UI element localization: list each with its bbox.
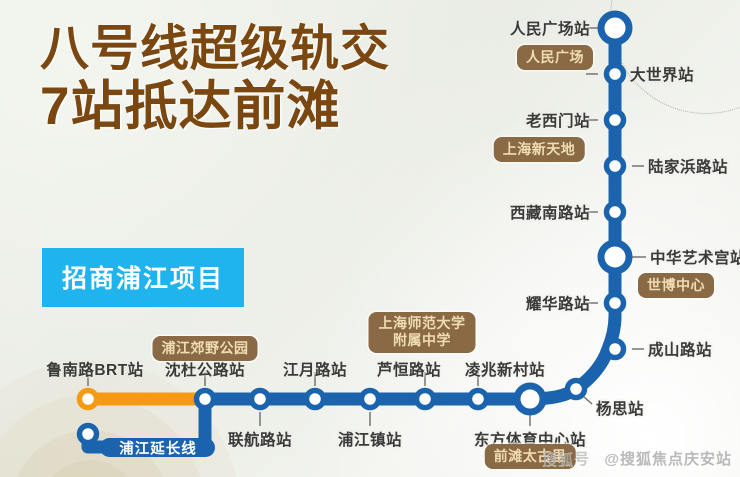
- poi-badge-expo-center[interactable]: 世博中心: [638, 273, 714, 298]
- station-dot[interactable]: [307, 391, 324, 408]
- station-dot-interchange[interactable]: [601, 14, 629, 42]
- station-dot[interactable]: [417, 391, 434, 408]
- station-label-chengshan-rd: 成山路站: [648, 338, 712, 360]
- station-dots: [80, 14, 630, 443]
- station-dot[interactable]: [607, 66, 624, 83]
- station-label-dashijie: 大世界站: [630, 63, 694, 85]
- station-dot-interchange[interactable]: [601, 243, 629, 271]
- station-dot-orange-terminus[interactable]: [80, 391, 97, 408]
- station-dot[interactable]: [607, 341, 624, 358]
- station-label-lujiabang-rd: 陆家浜路站: [648, 155, 728, 177]
- watermark-right: @搜狐焦点庆安站: [604, 448, 732, 469]
- station-label-jiangyue-rd: 江月路站: [283, 358, 347, 380]
- station-dot[interactable]: [362, 391, 379, 408]
- watermark-left: 搜狐号: [542, 448, 590, 469]
- station-label-laoximen: 老西门站: [526, 109, 590, 131]
- station-label-yaohua-rd: 耀华路站: [526, 292, 590, 314]
- station-label-renmin-square: 人民广场站: [510, 17, 590, 39]
- station-label-shendu-highway: 沈杜公路站: [165, 358, 245, 380]
- station-dot[interactable]: [607, 158, 624, 175]
- station-label-pujiang-town: 浦江镇站: [338, 428, 402, 450]
- station-dot-branch-terminus[interactable]: [80, 426, 97, 443]
- station-label-china-art-museum: 中华艺术宫站: [650, 246, 740, 268]
- station-dot[interactable]: [568, 381, 585, 398]
- branch-tag-label: 浦江延长线: [119, 438, 197, 459]
- station-label-lingzhao-xincun: 凌兆新村站: [465, 358, 545, 380]
- poi-line-2: 附属中学: [379, 332, 466, 349]
- poi-badge-pujiang-country-park[interactable]: 浦江郊野公园: [153, 336, 258, 361]
- metro-line-poster: 八号线超级轨交 7站抵达前滩 招商浦江项目: [0, 0, 740, 477]
- station-label-yangsi: 杨思站: [596, 397, 644, 419]
- station-label-lianhang-rd: 联航路站: [228, 428, 292, 450]
- station-dot[interactable]: [470, 391, 487, 408]
- station-label-luheng-rd: 芦恒路站: [377, 358, 441, 380]
- poi-badge-xintiandi[interactable]: 上海新天地: [494, 137, 585, 162]
- poi-badge-renmin-square[interactable]: 人民广场: [517, 45, 593, 70]
- station-dot[interactable]: [607, 204, 624, 221]
- poi-line-1: 上海师范大学: [379, 315, 466, 332]
- station-label-xizang-south-rd: 西藏南路站: [510, 201, 590, 223]
- station-dot[interactable]: [197, 391, 214, 408]
- station-dot[interactable]: [607, 112, 624, 129]
- poi-badge-shnu-affiliated-middle-school[interactable]: 上海师范大学 附属中学: [369, 312, 476, 353]
- station-dot[interactable]: [252, 391, 269, 408]
- station-dot[interactable]: [607, 295, 624, 312]
- station-dot-interchange[interactable]: [517, 386, 543, 412]
- station-label-lunan-rd-brt: 鲁南路BRT站: [46, 358, 143, 380]
